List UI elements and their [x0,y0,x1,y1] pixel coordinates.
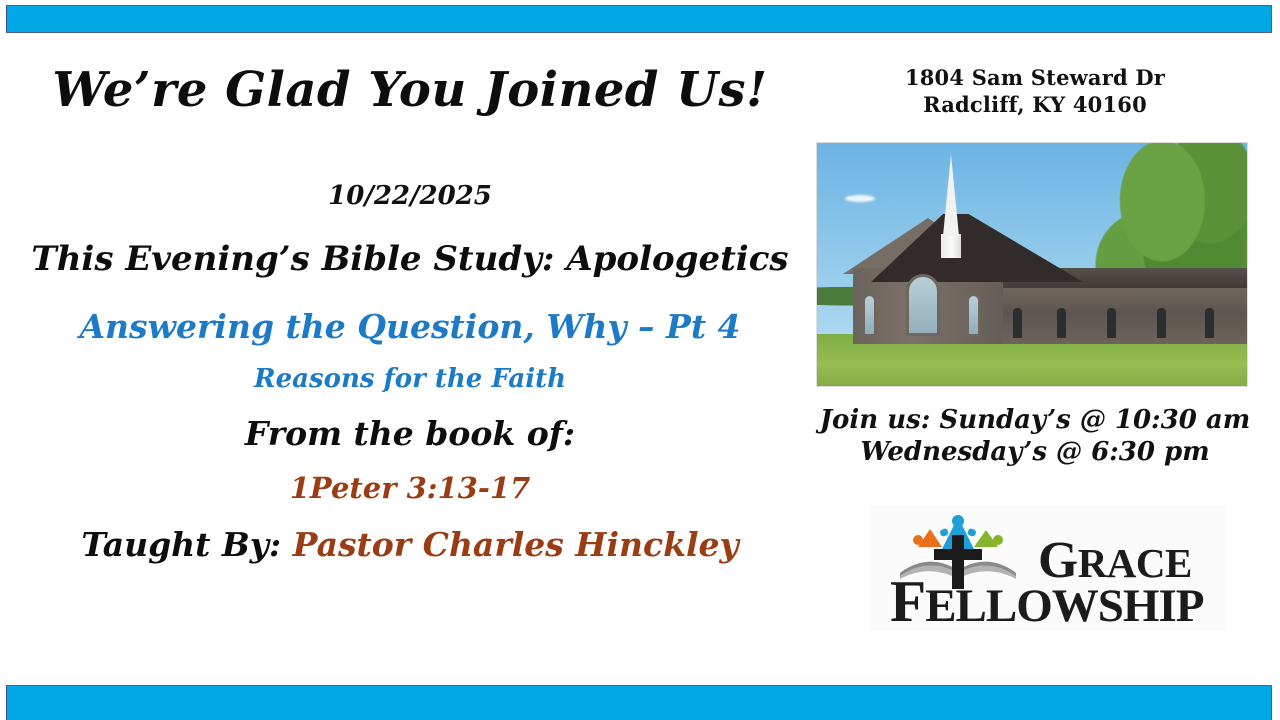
arched-window [906,274,940,336]
logo-fellowship-capital: F [890,568,925,634]
side-window-right [967,294,980,336]
taught-by-label: Taught By: [81,525,281,564]
welcome-headline: We’re Glad You Joined Us! [20,65,800,115]
study-topic: Answering the Question, Why – Pt 4 [20,307,800,346]
steeple-base [941,234,961,258]
service-time-wednesday: Wednesday’s @ 6:30 pm [808,437,1262,469]
teacher-name: Pastor Charles Hinckley [293,525,739,564]
bottom-accent-bar [6,685,1272,720]
church-address: 1804 Sam Steward Dr Radcliff, KY 40160 [800,65,1270,119]
steeple-spire [943,154,959,236]
church-building-photo [816,142,1248,387]
address-line-2: Radcliff, KY 40160 [800,92,1270,119]
side-window-left [863,294,876,336]
wing-window-3 [1107,308,1116,338]
service-date: 10/22/2025 [20,181,800,211]
bible-study-title: This Evening’s Bible Study: Apologetics [20,239,800,279]
service-times: Join us: Sunday’s @ 10:30 am Wednesday’s… [808,405,1262,468]
logo-wordmark: GRACE FELLOWSHIP [878,509,1218,627]
cloud-shape [845,195,875,202]
address-line-1: 1804 Sam Steward Dr [800,65,1270,92]
from-book-label: From the book of: [20,414,800,453]
grace-fellowship-logo: GRACE FELLOWSHIP [870,505,1226,631]
logo-fellowship-rest: ELLOWSHIP [925,580,1203,632]
logo-inner: GRACE FELLOWSHIP [878,509,1218,627]
announcement-slide: We’re Glad You Joined Us! 10/22/2025 Thi… [0,0,1280,720]
service-time-sunday: Join us: Sunday’s @ 10:30 am [808,405,1262,437]
wing-window-4 [1157,308,1166,338]
right-content-column: 1804 Sam Steward Dr Radcliff, KY 40160 [800,45,1270,645]
taught-by-line: Taught By: Pastor Charles Hinckley [20,525,800,564]
wing-window-1 [1013,308,1022,338]
wing-window-5 [1205,308,1214,338]
study-subtopic: Reasons for the Faith [20,364,800,394]
logo-word-fellowship: FELLOWSHIP [890,567,1204,636]
wing-window-2 [1057,308,1066,338]
scripture-passage: 1Peter 3:13-17 [20,471,800,505]
left-content-column: We’re Glad You Joined Us! 10/22/2025 Thi… [20,45,800,645]
top-accent-bar [6,5,1272,33]
